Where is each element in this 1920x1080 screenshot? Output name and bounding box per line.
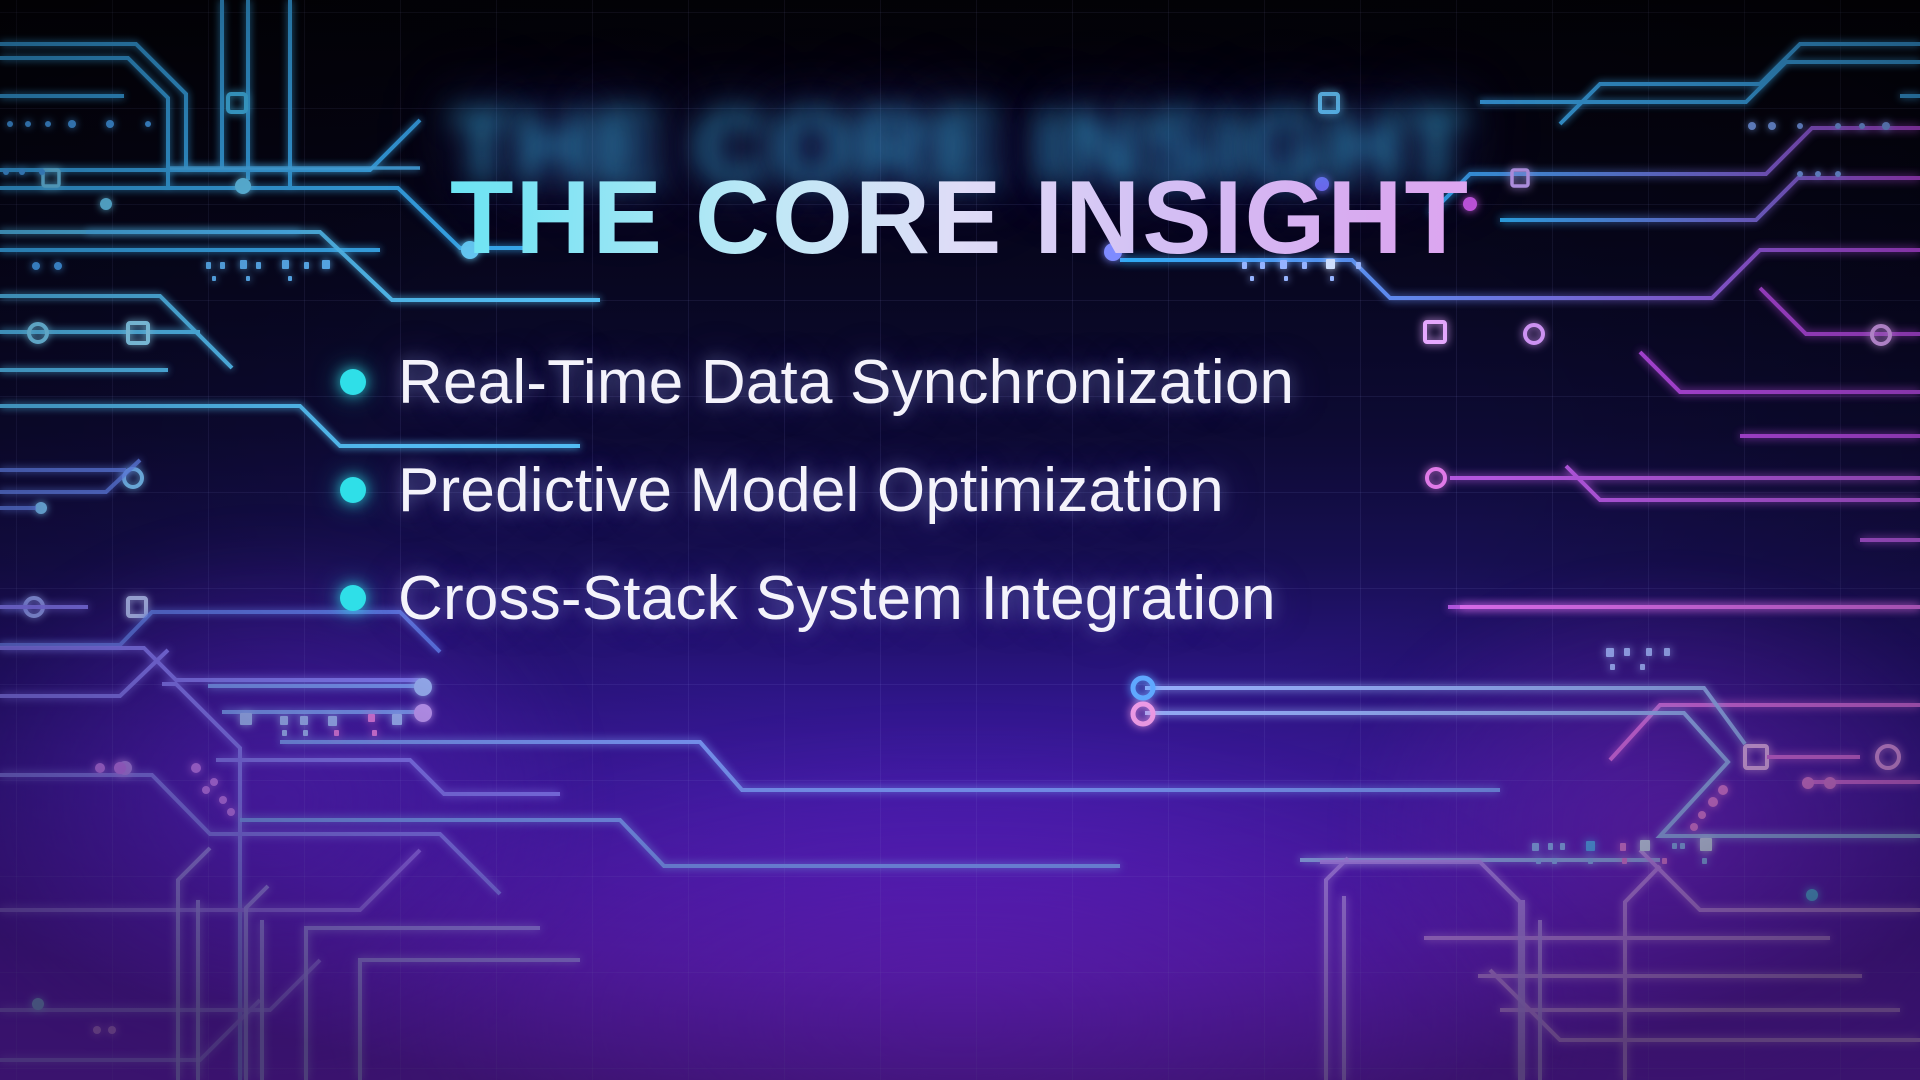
bullet-dot-icon xyxy=(340,585,366,611)
slide-content: THE CORE INSIGHT THE CORE INSIGHT Real-T… xyxy=(0,0,1920,1080)
bullet-label: Predictive Model Optimization xyxy=(398,455,1224,526)
bullet-list: Real-Time Data Synchronization Predictiv… xyxy=(340,328,1620,652)
presentation-slide: THE CORE INSIGHT THE CORE INSIGHT Real-T… xyxy=(0,0,1920,1080)
bullet-label: Real-Time Data Synchronization xyxy=(398,347,1294,418)
bullet-item-1: Real-Time Data Synchronization xyxy=(340,328,1620,436)
bullet-item-3: Cross-Stack System Integration xyxy=(340,544,1620,652)
bullet-dot-icon xyxy=(340,477,366,503)
bullet-dot-icon xyxy=(340,369,366,395)
bullet-label: Cross-Stack System Integration xyxy=(398,563,1276,634)
bullet-item-2: Predictive Model Optimization xyxy=(340,436,1620,544)
slide-title: THE CORE INSIGHT xyxy=(0,166,1920,270)
